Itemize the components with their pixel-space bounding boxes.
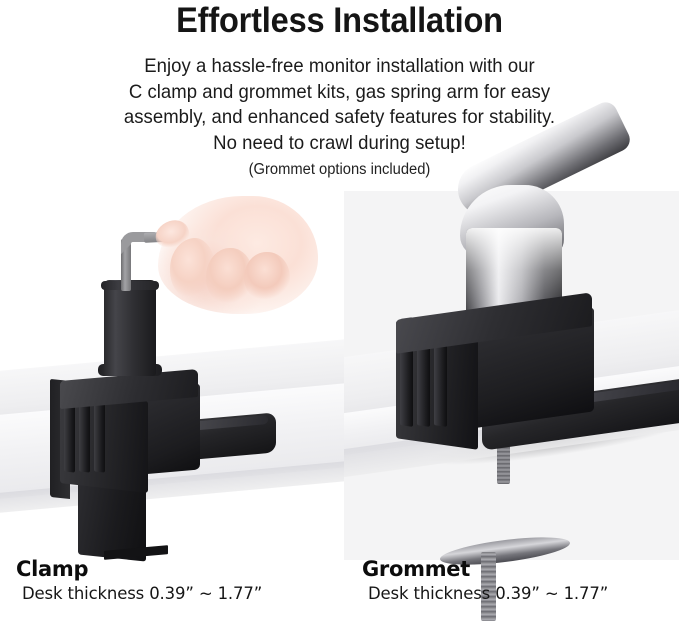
photo-panel-clamp (0, 0, 344, 621)
caption-clamp-subtitle: Desk thickness 0.39” ~ 1.77” (16, 582, 262, 605)
photo-panel-group (0, 0, 679, 621)
caption-grommet: Grommet Desk thickness 0.39” ~ 1.77” (362, 556, 608, 605)
photo-panel-grommet (344, 0, 679, 621)
caption-group: Clamp Desk thickness 0.39” ~ 1.77” Gromm… (0, 556, 679, 621)
caption-grommet-title: Grommet (362, 556, 608, 582)
product-infographic: Effortless Installation Enjoy a hassle-f… (0, 0, 679, 621)
hand-knuckle (244, 252, 290, 302)
caption-clamp-title: Clamp (16, 556, 262, 582)
mount-post (104, 280, 156, 376)
grommet-bolt-upper (497, 444, 510, 484)
caption-grommet-subtitle: Desk thickness 0.39” ~ 1.77” (362, 582, 608, 605)
caption-clamp: Clamp Desk thickness 0.39” ~ 1.77” (16, 556, 262, 605)
